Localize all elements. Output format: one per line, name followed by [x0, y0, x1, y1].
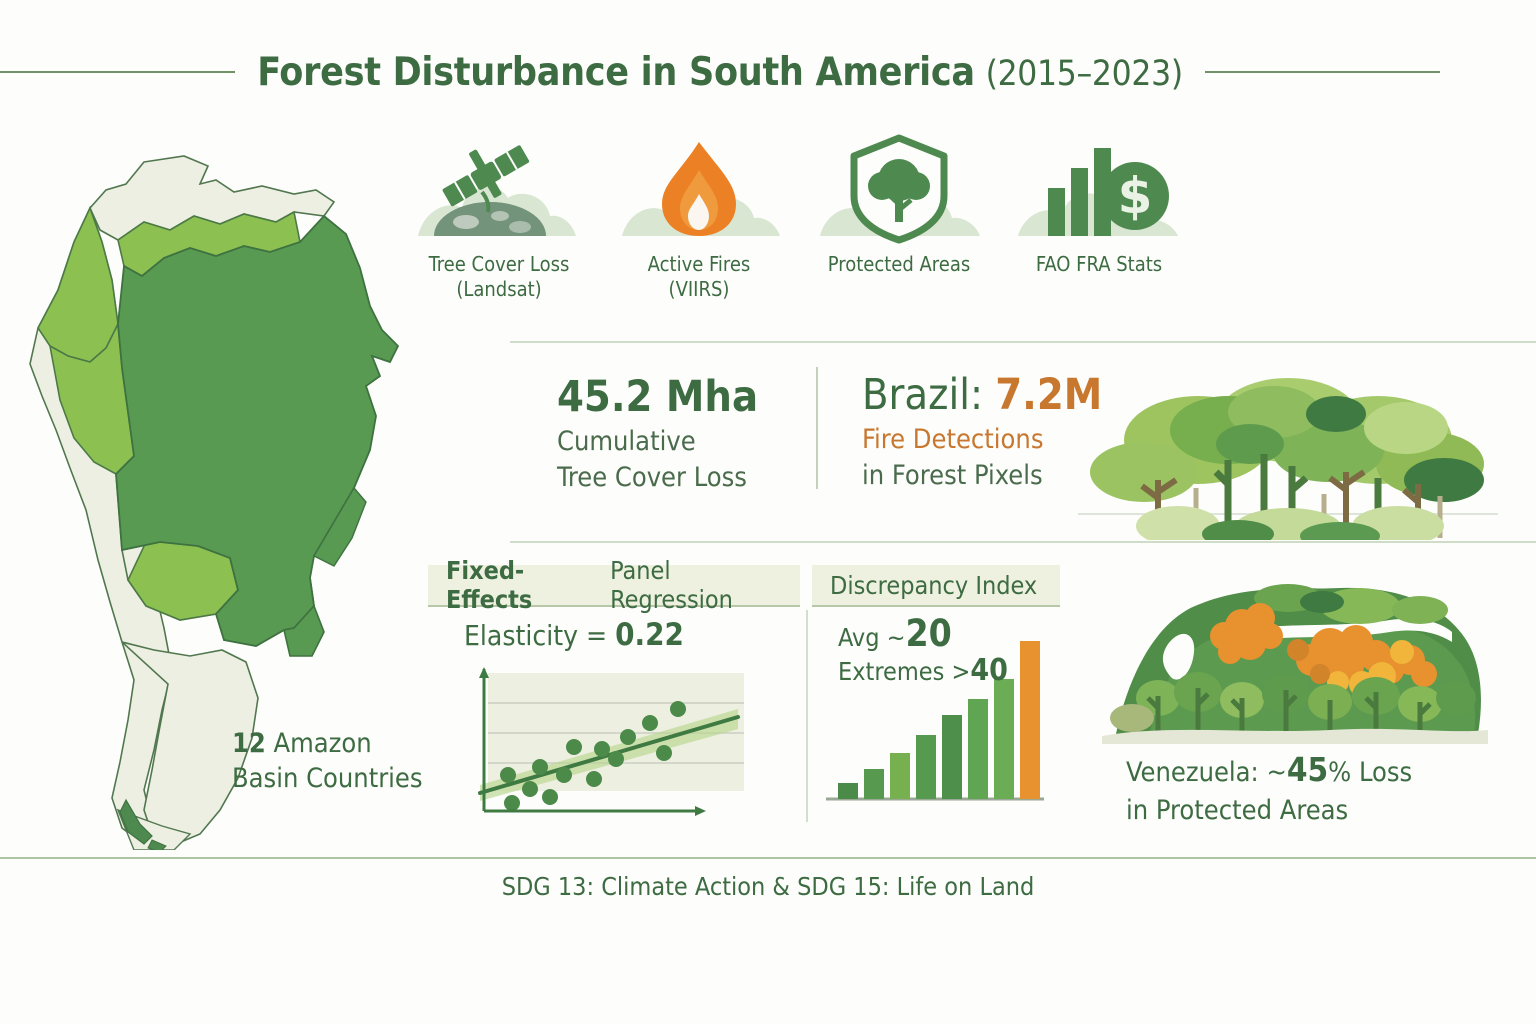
basin-country-count: 12	[232, 728, 266, 759]
stat-description-line2: in Forest Pixels	[862, 460, 1043, 491]
source-label-text: Active Fires	[648, 252, 751, 276]
panel-title-rest: Panel Regression	[610, 556, 800, 614]
source-label-text: Tree Cover Loss	[429, 252, 570, 276]
infographic-page: Forest Disturbance in South America (201…	[0, 0, 1536, 1024]
source-sublabel-text: (Landsat)	[429, 277, 570, 302]
avg-value: 20	[906, 612, 952, 655]
venezuela-note: Venezuela: ~45% Loss in Protected Areas	[1126, 748, 1412, 829]
svg-text:$: $	[1118, 167, 1153, 225]
avg-metric: Avg ~20	[838, 613, 1008, 654]
divider-below-stats	[510, 541, 1536, 543]
bar-chart-dollar-icon: $	[1004, 126, 1194, 244]
divider-between-panels	[806, 610, 808, 822]
source-label: Tree Cover Loss (Landsat)	[429, 252, 570, 302]
source-item-active-fires[interactable]: Active Fires (VIIRS)	[604, 126, 794, 316]
divider-above-stats	[510, 341, 1536, 343]
degraded-forest-illustration	[1090, 548, 1490, 744]
panel-title: Fixed-Effects Panel Regression	[428, 565, 800, 607]
title-rule-left	[0, 71, 235, 73]
source-label: Active Fires (VIIRS)	[648, 252, 751, 302]
page-title: Forest Disturbance in South America (201…	[257, 50, 1183, 95]
elasticity-value: 0.22	[615, 617, 684, 653]
stat-cumulative-tree-cover-loss: 45.2 Mha Cumulative Tree Cover Loss	[557, 374, 758, 496]
extremes-metric: Extremes >40	[838, 654, 1008, 688]
stat-description-line2: Tree Cover Loss	[557, 462, 747, 493]
panel-title: Discrepancy Index	[812, 565, 1060, 607]
avg-label: Avg ~	[838, 623, 906, 652]
elasticity-label: Elasticity =	[464, 619, 615, 652]
extremes-label: Extremes >	[838, 657, 970, 686]
discrepancy-metrics: Avg ~20 Extremes >40	[838, 613, 1008, 688]
page-title-main: Forest Disturbance in South America	[257, 50, 975, 95]
stat-description-line1: Cumulative	[557, 426, 696, 457]
source-item-protected-areas[interactable]: Protected Areas	[804, 126, 994, 316]
title-rule-right	[1205, 71, 1440, 73]
source-label-text: FAO FRA Stats	[1036, 252, 1162, 276]
panel-title-text: Discrepancy Index	[830, 571, 1037, 600]
stat-value-row: Brazil: 7.2M	[862, 372, 1102, 418]
divider-above-footer	[0, 857, 1536, 859]
extremes-value: 40	[970, 653, 1008, 688]
panel-fixed-effects-regression: Fixed-Effects Panel Regression Elasticit…	[428, 565, 800, 825]
venezuela-line2: in Protected Areas	[1126, 795, 1348, 826]
source-label: Protected Areas	[828, 252, 970, 277]
panel-discrepancy-index: Discrepancy Index Avg ~20 Extremes >40	[812, 565, 1060, 825]
stat-description: Cumulative Tree Cover Loss	[557, 424, 758, 495]
venezuela-prefix: Venezuela: ~	[1126, 757, 1287, 788]
page-title-years: (2015–2023)	[986, 54, 1183, 94]
basin-country-label-2: Basin Countries	[232, 763, 423, 794]
venezuela-suffix: % Loss	[1328, 757, 1412, 788]
venezuela-value: 45	[1287, 750, 1328, 789]
source-label: FAO FRA Stats	[1036, 252, 1162, 277]
forest-canopy-illustration	[1078, 368, 1498, 540]
panel-title-bold: Fixed-Effects	[446, 556, 610, 614]
flame-icon	[604, 126, 794, 244]
stat-description-line1: Fire Detections	[862, 424, 1043, 455]
satellite-icon	[404, 126, 594, 244]
source-item-tree-cover-loss[interactable]: Tree Cover Loss (Landsat)	[404, 126, 594, 316]
basin-country-label-1: Amazon	[266, 728, 372, 759]
source-sublabel-text: (VIIRS)	[648, 277, 751, 302]
stat-prefix: Brazil:	[862, 370, 995, 420]
source-item-fao-fra-stats[interactable]: $ FAO FRA Stats	[1004, 126, 1194, 316]
divider-between-stats	[816, 367, 818, 489]
elasticity-metric: Elasticity = 0.22	[464, 617, 684, 653]
shield-tree-icon	[804, 126, 994, 244]
stat-value: 45.2 Mha	[557, 374, 758, 420]
footer-sdg-note: SDG 13: Climate Action & SDG 15: Life on…	[0, 872, 1536, 901]
header: Forest Disturbance in South America (201…	[0, 44, 1536, 100]
source-label-text: Protected Areas	[828, 252, 970, 276]
data-sources-row: Tree Cover Loss (Landsat) Active Fires (…	[404, 126, 1194, 316]
map-caption: 12 Amazon Basin Countries	[232, 726, 423, 796]
stat-brazil-fire-detections: Brazil: 7.2M Fire Detections in Forest P…	[862, 372, 1102, 494]
regression-scatter-chart	[450, 663, 790, 821]
stat-description: Fire Detections in Forest Pixels	[862, 422, 1102, 493]
